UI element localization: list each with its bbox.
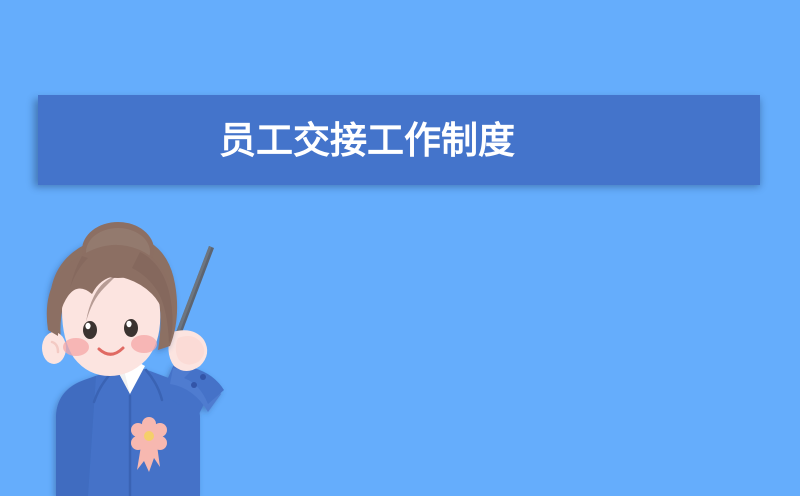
hand xyxy=(168,330,207,371)
teacher-illustration xyxy=(18,218,248,496)
page-title: 员工交接工作制度 xyxy=(219,122,515,159)
title-banner: 员工交接工作制度 xyxy=(38,95,760,185)
pointer-stick-icon xyxy=(173,246,214,343)
slide-canvas: 员工交接工作制度 xyxy=(0,0,800,496)
ear xyxy=(42,332,66,364)
